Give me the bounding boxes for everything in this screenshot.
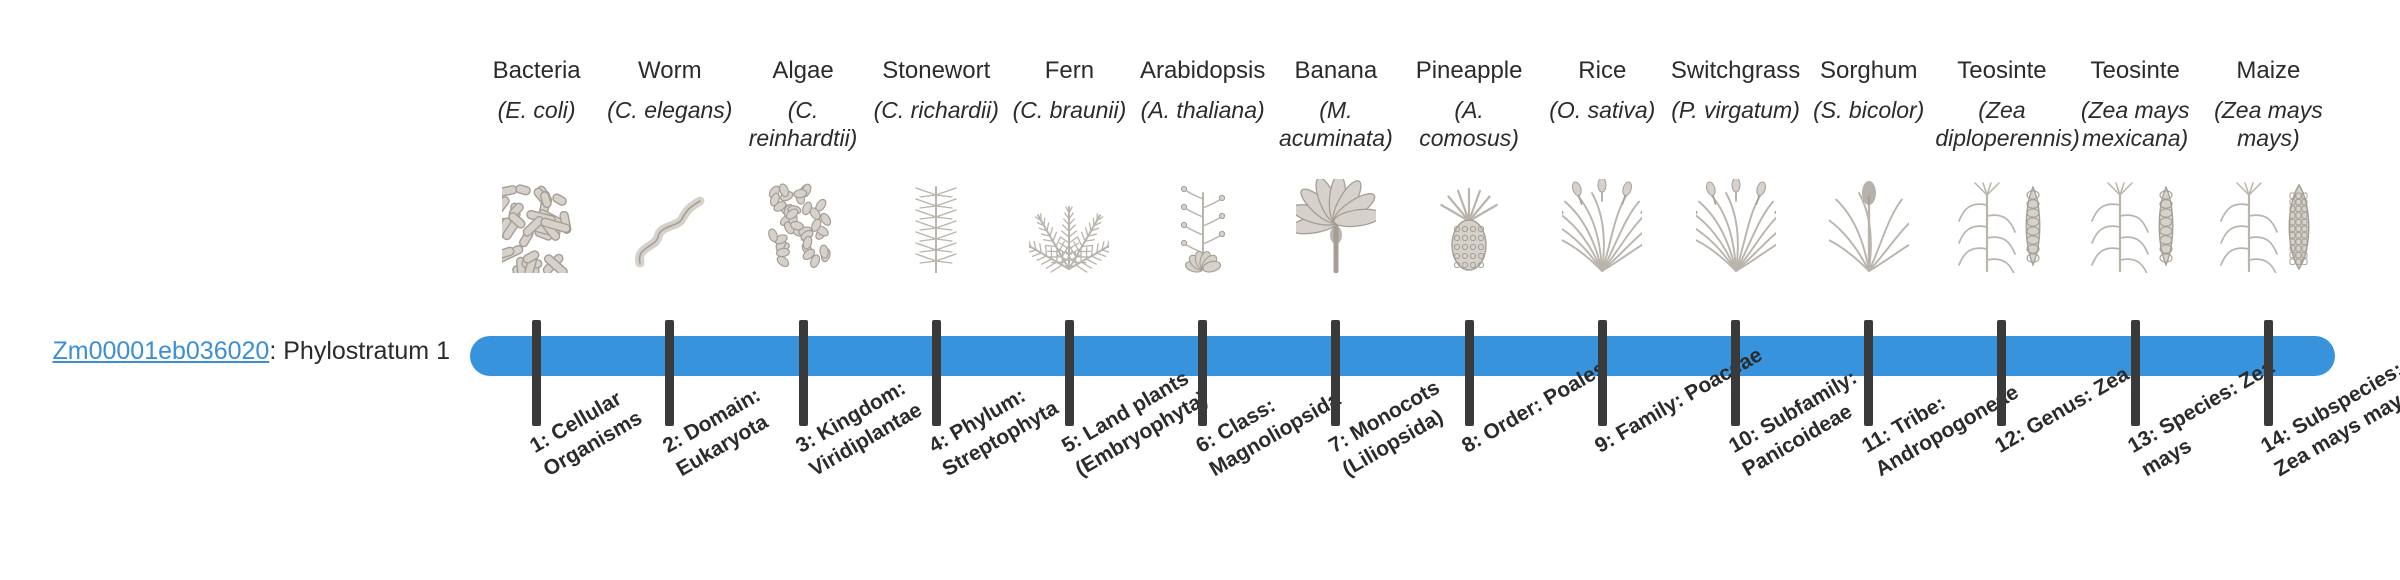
species-common-name: Worm bbox=[603, 58, 736, 84]
species-scientific-name: (A. comosus) bbox=[1403, 96, 1536, 152]
species-column: Stonewort (C. richardii) bbox=[870, 0, 1003, 580]
phylostratum-tick[interactable] bbox=[1065, 320, 1074, 426]
species-scientific-name: (C. reinhardtii) bbox=[736, 96, 869, 152]
species-track: Bacteria (E. coli) Worm (C. elegans) Alg… bbox=[470, 0, 2335, 580]
species-scientific-name: (C. elegans) bbox=[603, 96, 736, 124]
species-common-name: Arabidopsis bbox=[1136, 58, 1269, 84]
species-header: Teosinte (Zea diploperennis) bbox=[1935, 58, 2068, 152]
phylostratum-tick[interactable] bbox=[1864, 320, 1873, 426]
gene-phylostratum-label: Zm00001eb036020: Phylostratum 1 bbox=[40, 336, 450, 366]
stonewort-illustration bbox=[870, 168, 1003, 273]
phylostratum-tick[interactable] bbox=[532, 320, 541, 426]
species-scientific-name: (Zea mays mexicana) bbox=[2069, 96, 2202, 152]
species-common-name: Sorghum bbox=[1802, 58, 1935, 84]
species-common-name: Algae bbox=[736, 58, 869, 84]
species-column: Arabidopsis (A. thaliana) bbox=[1136, 0, 1269, 580]
species-scientific-name: (S. bicolor) bbox=[1802, 96, 1935, 124]
phylostratum-value: Phylostratum 1 bbox=[283, 337, 450, 365]
species-header: Teosinte (Zea mays mexicana) bbox=[2069, 58, 2202, 152]
phylostratum-tick[interactable] bbox=[1598, 320, 1607, 426]
phylostratum-tick[interactable] bbox=[665, 320, 674, 426]
algae-illustration bbox=[736, 168, 869, 273]
phylostratum-tick[interactable] bbox=[932, 320, 941, 426]
species-common-name: Switchgrass bbox=[1669, 58, 1802, 84]
phylostratum-tick[interactable] bbox=[2264, 320, 2273, 426]
species-common-name: Rice bbox=[1536, 58, 1669, 84]
species-common-name: Stonewort bbox=[870, 58, 1003, 84]
species-scientific-name: (C. richardii) bbox=[870, 96, 1003, 124]
gene-id-link[interactable]: Zm00001eb036020 bbox=[52, 337, 269, 365]
gene-label-separator: : bbox=[269, 337, 283, 365]
species-header: Sorghum (S. bicolor) bbox=[1802, 58, 1935, 124]
species-column: Maize (Zea mays mays) bbox=[2202, 0, 2335, 580]
species-scientific-name: (O. sativa) bbox=[1536, 96, 1669, 124]
species-header: Worm (C. elegans) bbox=[603, 58, 736, 124]
species-column: Teosinte (Zea mays mexicana) bbox=[2069, 0, 2202, 580]
maize-illustration bbox=[2202, 168, 2335, 273]
species-header: Stonewort (C. richardii) bbox=[870, 58, 1003, 124]
species-column: Sorghum (S. bicolor) bbox=[1802, 0, 1935, 580]
species-column: Pineapple (A. comosus) bbox=[1403, 0, 1536, 580]
worm-illustration bbox=[603, 168, 736, 273]
species-column: Rice (O. sativa) bbox=[1536, 0, 1669, 580]
species-header: Fern (C. braunii) bbox=[1003, 58, 1136, 124]
species-common-name: Banana bbox=[1269, 58, 1402, 84]
species-scientific-name: (Zea mays mays) bbox=[2202, 96, 2335, 152]
banana-illustration bbox=[1269, 168, 1402, 273]
species-column: Banana (M. acuminata) bbox=[1269, 0, 1402, 580]
sorghum-illustration bbox=[1802, 168, 1935, 273]
species-scientific-name: (M. acuminata) bbox=[1269, 96, 1402, 152]
species-header: Banana (M. acuminata) bbox=[1269, 58, 1402, 152]
bacteria-illustration bbox=[470, 168, 603, 273]
phylostratum-tick[interactable] bbox=[1997, 320, 2006, 426]
phylostratum-tick[interactable] bbox=[1465, 320, 1474, 426]
species-scientific-name: (A. thaliana) bbox=[1136, 96, 1269, 124]
species-header: Bacteria (E. coli) bbox=[470, 58, 603, 124]
species-common-name: Bacteria bbox=[470, 58, 603, 84]
species-column: Bacteria (E. coli) bbox=[470, 0, 603, 580]
species-header: Pineapple (A. comosus) bbox=[1403, 58, 1536, 152]
phylostratigraphy-figure: Zm00001eb036020: Phylostratum 1 Bacteria… bbox=[0, 0, 2400, 580]
arabidopsis-illustration bbox=[1136, 168, 1269, 273]
phylostratum-tick[interactable] bbox=[1198, 320, 1207, 426]
species-common-name: Pineapple bbox=[1403, 58, 1536, 84]
species-scientific-name: (Zea diploperennis) bbox=[1935, 96, 2068, 152]
pineapple-illustration bbox=[1403, 168, 1536, 273]
phylostratum-tick[interactable] bbox=[1331, 320, 1340, 426]
phylostratum-tick[interactable] bbox=[799, 320, 808, 426]
species-scientific-name: (P. virgatum) bbox=[1669, 96, 1802, 124]
switchgrass-illustration bbox=[1669, 168, 1802, 273]
species-common-name: Maize bbox=[2202, 58, 2335, 84]
species-column: Worm (C. elegans) bbox=[603, 0, 736, 580]
species-column: Fern (C. braunii) bbox=[1003, 0, 1136, 580]
species-common-name: Fern bbox=[1003, 58, 1136, 84]
species-header: Rice (O. sativa) bbox=[1536, 58, 1669, 124]
species-common-name: Teosinte bbox=[2069, 58, 2202, 84]
rice-illustration bbox=[1536, 168, 1669, 273]
species-scientific-name: (C. braunii) bbox=[1003, 96, 1136, 124]
teosinte-mexicana-illustration bbox=[2069, 168, 2202, 273]
species-header: Maize (Zea mays mays) bbox=[2202, 58, 2335, 152]
species-common-name: Teosinte bbox=[1935, 58, 2068, 84]
fern-illustration bbox=[1003, 168, 1136, 273]
phylostratum-tick[interactable] bbox=[2131, 320, 2140, 426]
teosinte-diploperennis-illustration bbox=[1935, 168, 2068, 273]
species-header: Arabidopsis (A. thaliana) bbox=[1136, 58, 1269, 124]
species-column: Algae (C. reinhardtii) bbox=[736, 0, 869, 580]
phylostratum-tick[interactable] bbox=[1731, 320, 1740, 426]
species-scientific-name: (E. coli) bbox=[470, 96, 603, 124]
species-column: Teosinte (Zea diploperennis) bbox=[1935, 0, 2068, 580]
species-header: Switchgrass (P. virgatum) bbox=[1669, 58, 1802, 124]
species-column: Switchgrass (P. virgatum) bbox=[1669, 0, 1802, 580]
species-header: Algae (C. reinhardtii) bbox=[736, 58, 869, 152]
